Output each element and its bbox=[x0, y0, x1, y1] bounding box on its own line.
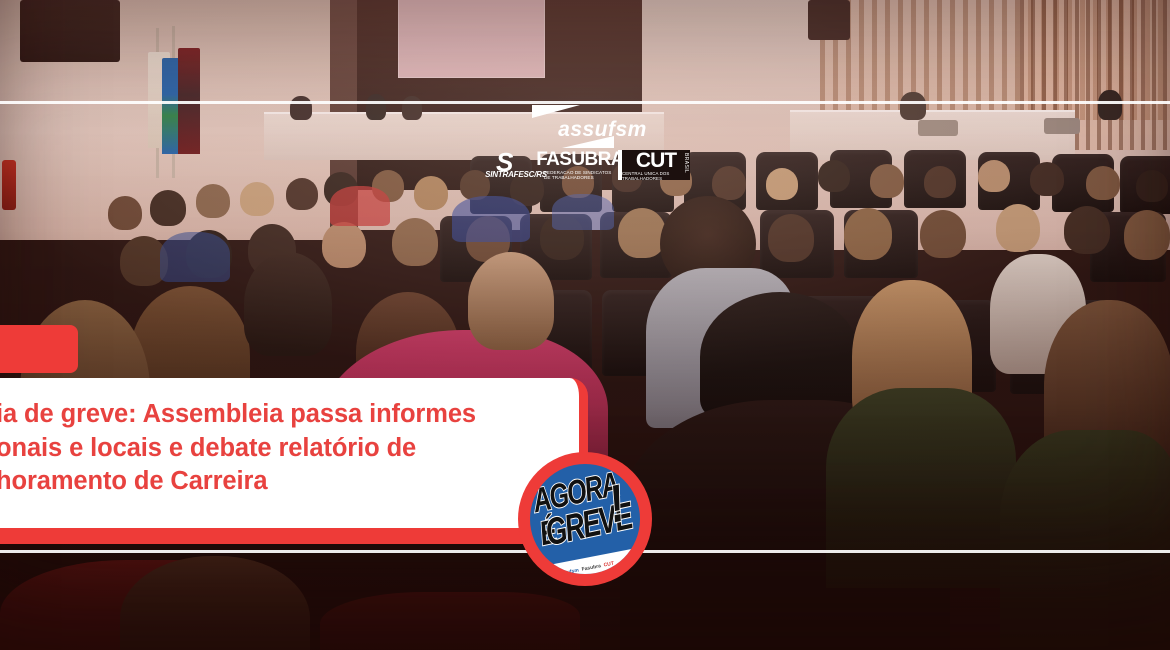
agora-e-greve-stamp[interactable]: AGORA É GREVE ! Assufsm Fasubra CUT bbox=[518, 452, 652, 586]
banner-logo-row: S SINTRAFESC/RS FASUBRA FEDERACAO DE SIN… bbox=[490, 149, 690, 181]
top-divider bbox=[0, 101, 1170, 104]
cut-logo: CUT CENTRAL UNICA DOS TRABALHADORES BRAS… bbox=[618, 150, 690, 180]
headline-line-2: onais e locais e debate relatório de bbox=[0, 434, 416, 462]
cut-sub: CENTRAL UNICA DOS TRABALHADORES bbox=[622, 171, 690, 181]
assufsm-logo: assufsm bbox=[540, 107, 665, 151]
sintrafesc-mark: S bbox=[496, 149, 513, 175]
headline-line-1: ia de greve: Assembleia passa informes bbox=[0, 400, 476, 428]
stamp-logo-cut: CUT bbox=[603, 561, 614, 568]
page-title: ia de greve: Assembleia passa informes o… bbox=[0, 398, 499, 499]
cut-main: CUT bbox=[636, 150, 676, 171]
union-banner: assufsm S SINTRAFESC/RS FASUBRA FEDERACA… bbox=[490, 105, 690, 185]
headline-card[interactable]: ia de greve: Assembleia passa informes o… bbox=[0, 378, 588, 528]
fasubra-logo: FASUBRA FEDERACAO DE SINDICATOS DE TRABA… bbox=[544, 150, 616, 180]
headline-card-accent-bar bbox=[0, 528, 597, 544]
stamp-logo-assufsm: Assufsm bbox=[558, 568, 580, 574]
sintrafesc-label: SINTRAFESC/RS bbox=[485, 170, 547, 179]
category-tag[interactable] bbox=[0, 325, 78, 373]
sintrafesc-logo: S SINTRAFESC/RS bbox=[490, 151, 542, 179]
stamp-logo-fasubra: Fasubra bbox=[581, 564, 601, 573]
fasubra-sub: FEDERACAO DE SINDICATOS DE TRABALHADORES bbox=[544, 170, 616, 180]
cut-side-label: BRASIL bbox=[683, 153, 689, 173]
headline-line-3: horamento de Carreira bbox=[0, 467, 267, 495]
headline-card-inner: ia de greve: Assembleia passa informes o… bbox=[0, 378, 579, 499]
stamp-inner-disc: AGORA É GREVE ! Assufsm Fasubra CUT bbox=[530, 464, 640, 574]
fasubra-main: FASUBRA bbox=[536, 150, 624, 169]
assufsm-logo-text: assufsm bbox=[558, 119, 647, 140]
hero-banner: assufsm S SINTRAFESC/RS FASUBRA FEDERACA… bbox=[0, 0, 1170, 650]
